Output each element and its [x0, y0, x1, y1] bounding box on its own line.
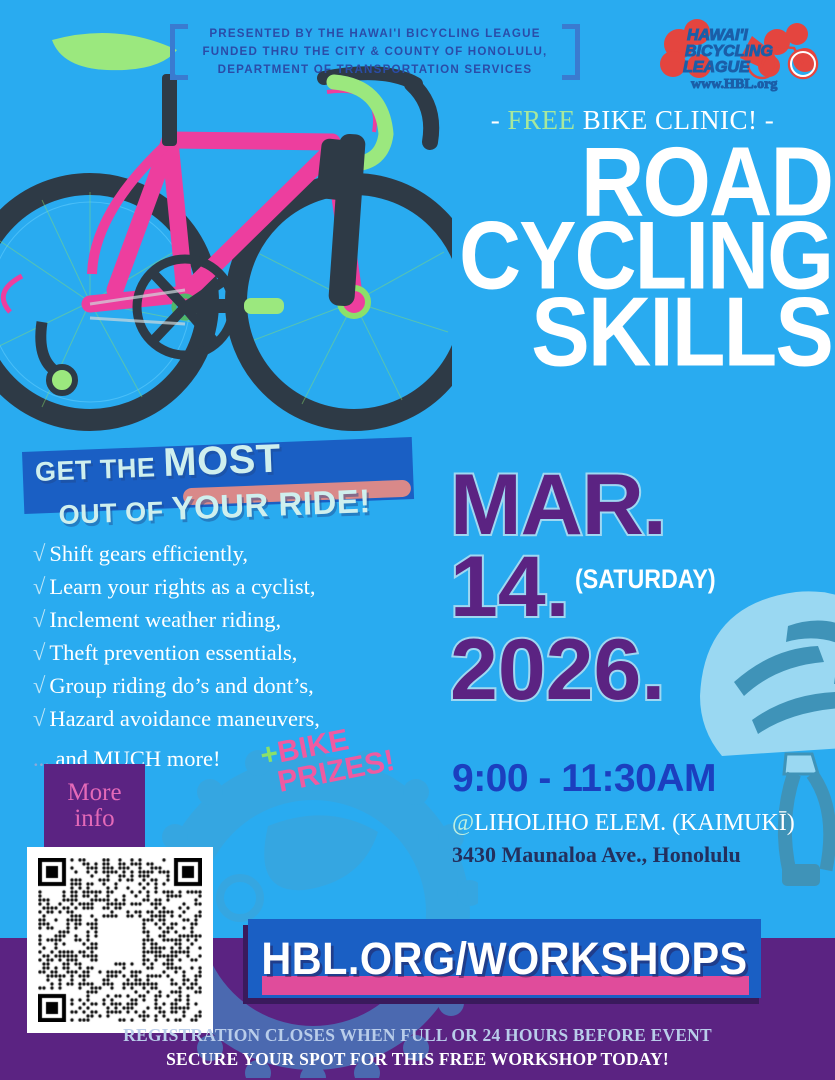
check-icon: √ [33, 607, 45, 632]
list-item-label: Learn your rights as a cyclist, [49, 574, 315, 599]
event-address: 3430 Maunaloa Ave., Honolulu [452, 842, 741, 868]
page-title: ROAD CYCLING SKILLS [440, 144, 832, 369]
list-item-label: Hazard avoidance maneuvers, [49, 706, 319, 731]
title-line-3: SKILLS [440, 289, 832, 374]
event-weekday: (SATURDAY) [575, 564, 716, 595]
more-info-line-2: info [67, 806, 121, 832]
tagline-line2-small: OUT OF [58, 496, 164, 530]
at-symbol-icon: @ [452, 810, 474, 836]
note-line-1: REGISTRATION CLOSES WHEN FULL OR 24 HOUR… [0, 1024, 835, 1048]
logo-line-3: LEAGUE [683, 59, 751, 76]
logo-url: www.HBL.org [691, 77, 777, 92]
bracket-right-icon [562, 24, 580, 80]
list-item-label: Group riding do’s and dont’s, [49, 673, 313, 698]
more-info-box[interactable]: More info [44, 764, 145, 848]
list-item: √Shift gears efficiently, [33, 538, 433, 571]
presenter-credit: PRESENTED BY THE HAWAI'I BICYCLING LEAGU… [170, 16, 580, 88]
list-item: √Inclement weather riding, [33, 604, 433, 637]
qr-code[interactable] [27, 847, 213, 1033]
bracket-left-icon [170, 24, 188, 80]
qr-code-canvas[interactable] [38, 858, 202, 1022]
note-line-2: SECURE YOUR SPOT FOR THIS FREE WORKSHOP … [0, 1048, 835, 1072]
check-icon: √ [33, 541, 45, 566]
tagline: GET THE MOST OUT OF YOUR RIDE! [34, 431, 417, 533]
list-item-label: Inclement weather riding, [49, 607, 281, 632]
event-year: 2026. [450, 633, 835, 709]
credit-line-3: DEPARTMENT OF TRANSPORTATION SERVICES [203, 61, 548, 79]
tagline-line1-big: MOST [162, 437, 281, 485]
tagline-line1-small: GET THE [34, 452, 156, 487]
check-icon: √ [33, 640, 45, 665]
registration-note: REGISTRATION CLOSES WHEN FULL OR 24 HOUR… [0, 1024, 835, 1071]
check-icon: √ [33, 673, 45, 698]
event-month: MAR. [450, 468, 835, 544]
list-item: √Theft prevention essentials, [33, 637, 433, 670]
logo-line-1: HAWAI'I [687, 27, 748, 44]
list-item: √Learn your rights as a cyclist, [33, 571, 433, 604]
event-venue: @LIHOLIHO ELEM. (KAIMUKĪ) [452, 810, 795, 837]
event-venue-label: LIHOLIHO ELEM. (KAIMUKĪ) [474, 810, 795, 836]
kicker-dash-left: - [491, 105, 501, 135]
kicker-free: FREE [508, 105, 576, 135]
credit-line-1: PRESENTED BY THE HAWAI'I BICYCLING LEAGU… [203, 25, 548, 43]
event-time: 9:00 - 11:30AM [452, 757, 716, 801]
tagline-line2-big: YOUR RIDE! [171, 482, 372, 527]
poster-root: PRESENTED BY THE HAWAI'I BICYCLING LEAGU… [0, 0, 835, 1080]
list-item: √Group riding do’s and dont’s, [33, 670, 433, 703]
list-item-label: Theft prevention essentials, [49, 640, 297, 665]
hbl-logo[interactable]: HAWAI'I BICYCLING LEAGUE www.HBL.org [657, 14, 827, 94]
logo-line-2: BICYCLING [685, 43, 773, 60]
check-icon: √ [33, 574, 45, 599]
credit-line-2: FUNDED THRU THE CITY & COUNTY OF HONOLUL… [203, 43, 548, 61]
cta-url-label[interactable]: HBL.ORG/WORKSHOPS [269, 925, 741, 993]
more-info-line-1: More [67, 780, 121, 806]
list-item-label: Shift gears efficiently, [49, 541, 248, 566]
check-icon: √ [33, 706, 45, 731]
